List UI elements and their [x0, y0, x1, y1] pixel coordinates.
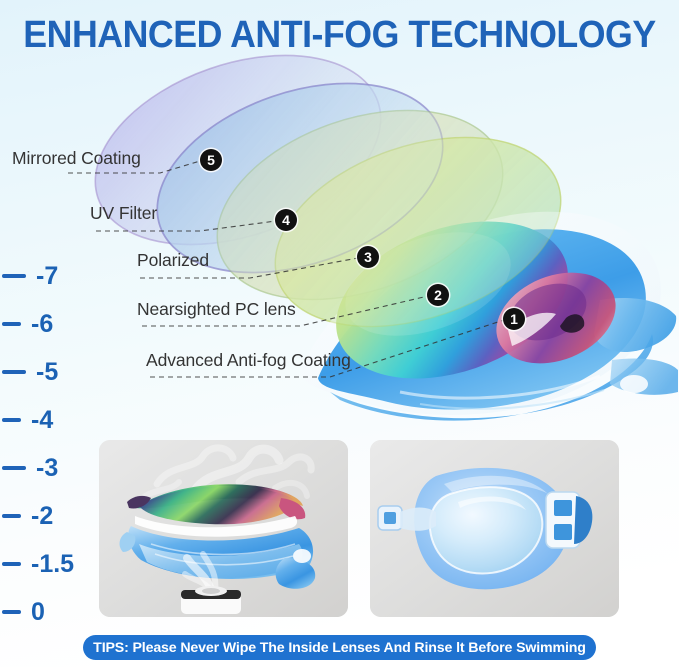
- panel-goggle-lens-closeup: [370, 440, 619, 617]
- callout-label-mirrored-coating: Mirrored Coating: [12, 148, 141, 169]
- scale-tick-icon: [2, 562, 21, 566]
- scale-tick-icon: [2, 466, 26, 470]
- callout-label-advanced-anti-fog-coating: Advanced Anti-fog Coating: [146, 350, 351, 371]
- scale-row: -5: [0, 348, 92, 396]
- numbered-circle-icon-2: 2: [427, 284, 449, 306]
- scale-tick-icon: [2, 514, 21, 518]
- scale-tick-icon: [2, 322, 21, 326]
- scale-row: -7: [0, 252, 92, 300]
- scale-tick-icon: [2, 274, 26, 278]
- scale-value: -1.5: [31, 550, 74, 579]
- callout-label-nearsighted-pc-lens: Nearsighted PC lens: [137, 299, 296, 320]
- callout-label-polarized: Polarized: [137, 250, 209, 271]
- panel-anti-fog-steam-test: [99, 440, 348, 617]
- scale-row: -3: [0, 444, 92, 492]
- scale-value: -5: [36, 358, 58, 387]
- numbered-circle-icon-5: 5: [200, 149, 222, 171]
- scale-value: 0: [31, 598, 45, 627]
- tips-banner: TIPS: Please Never Wipe The Inside Lense…: [83, 635, 596, 660]
- scale-tick-icon: [2, 418, 21, 422]
- scale-value: -7: [36, 262, 58, 291]
- numbered-circle-icon-3: 3: [357, 246, 379, 268]
- scale-row: -2: [0, 492, 92, 540]
- scale-row: -6: [0, 300, 92, 348]
- scale-value: -2: [31, 502, 53, 531]
- scale-tick-icon: [2, 610, 21, 614]
- scale-row: -1.5: [0, 540, 92, 588]
- scale-value: -4: [31, 406, 53, 435]
- scale-row: -4: [0, 396, 92, 444]
- numbered-circle-icon-1: 1: [503, 308, 525, 330]
- scale-row: 0: [0, 588, 92, 636]
- diopter-scale: -7 -6 -5 -4 -3 -2 -1.5 0: [0, 252, 92, 636]
- numbered-circle-icon-4: 4: [275, 209, 297, 231]
- product-infographic: ENHANCED ANTI-FOG TECHNOLOGY: [0, 0, 679, 667]
- scale-value: -6: [31, 310, 53, 339]
- callout-label-uv-filter: UV Filter: [90, 203, 157, 224]
- scale-value: -3: [36, 454, 58, 483]
- scale-tick-icon: [2, 370, 26, 374]
